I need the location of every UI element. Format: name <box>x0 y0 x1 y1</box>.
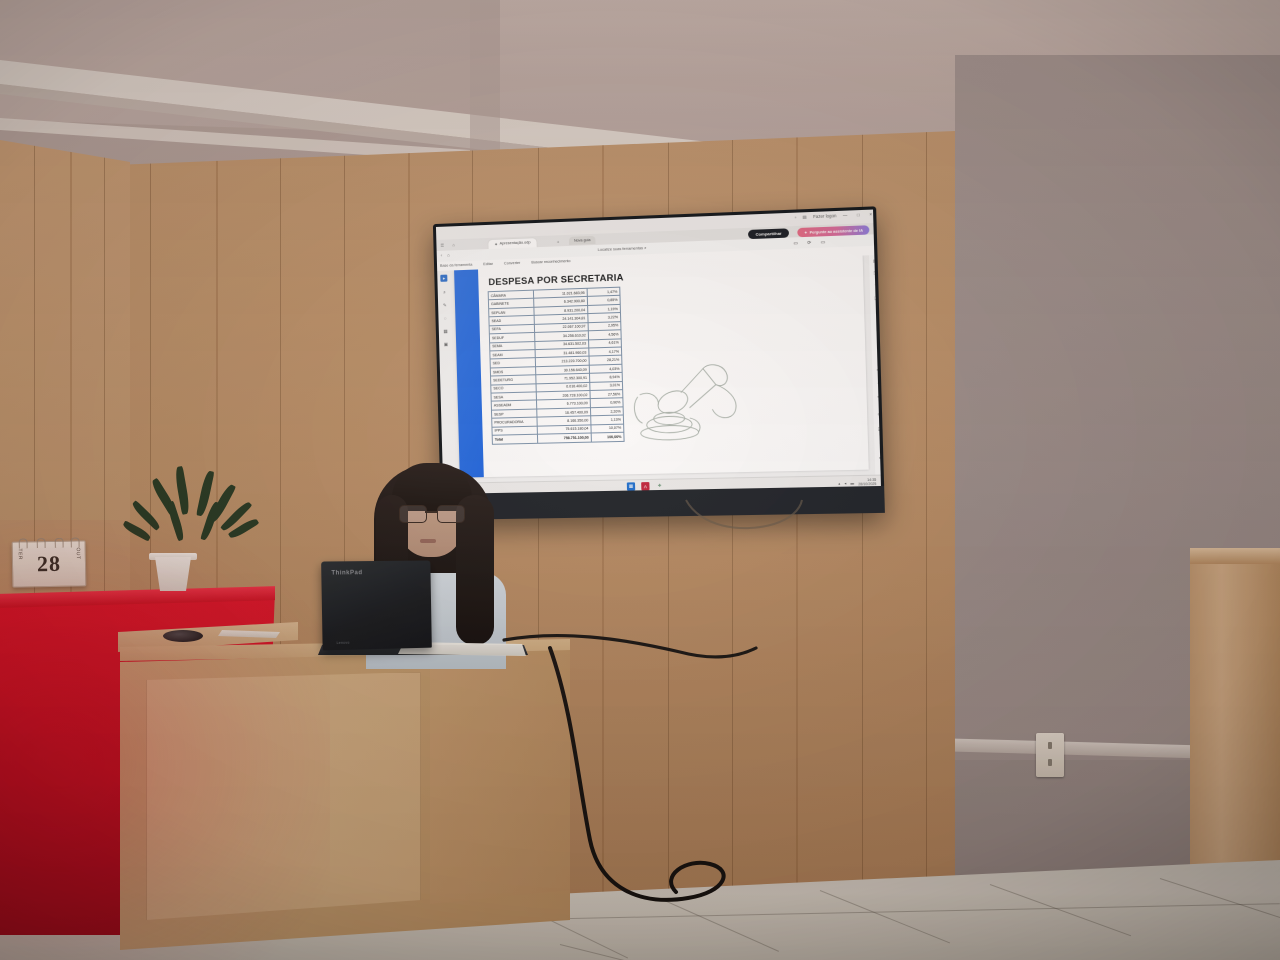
ribbon-item-2[interactable]: Converter <box>504 260 520 265</box>
edit-icon[interactable]: ✎ <box>875 367 881 373</box>
cell-valor: 758.751.100,00 <box>537 433 591 443</box>
window-controls-group: ▫ ▤ Fazer logon — □ × <box>795 211 877 219</box>
ribbon-item-3[interactable]: Buscar reconhecimento <box>531 259 570 264</box>
panel-icon[interactable]: ▤ <box>872 257 879 263</box>
search-hint-label: Localize suas ferramentas <box>598 246 643 252</box>
calendar-month: OUT <box>75 547 81 559</box>
wood-column-cap <box>1190 548 1280 564</box>
search-icon[interactable]: ⌕ <box>644 246 646 250</box>
fill-icon[interactable]: C <box>876 410 881 416</box>
share-button-label: Compartilhar <box>755 231 781 237</box>
pen-icon[interactable]: ✎ <box>441 302 448 309</box>
calendar-rings <box>13 537 85 547</box>
zoom-icon[interactable]: ⌕ <box>441 289 448 296</box>
laptop-badge: Lenovo <box>337 641 350 645</box>
shape-icon[interactable]: ▣ <box>442 341 449 348</box>
sparkle-icon: ✦ <box>804 230 807 234</box>
desk-object <box>163 630 203 642</box>
settings-icon[interactable]: ◈ <box>877 454 881 460</box>
volume-icon[interactable]: ◂ <box>844 481 846 485</box>
lectern-panel <box>146 672 421 927</box>
share-button[interactable]: Compartilhar <box>748 228 789 239</box>
photo-scene: ▫ ▤ Fazer logon — □ × ☰ ⌂ ✦ Apresentação… <box>0 0 1280 960</box>
tab-new[interactable]: Nova guia <box>569 236 596 245</box>
home-icon[interactable]: ⌂ <box>447 253 450 258</box>
crop-icon[interactable]: ◪ <box>877 425 881 431</box>
tv-screen: ▫ ▤ Fazer logon — □ × ☰ ⌂ ✦ Apresentação… <box>436 210 881 494</box>
floor-cable <box>520 640 820 940</box>
ai-button-label: Pergunte ao assistente de IA <box>809 228 863 234</box>
back-icon[interactable]: ‹ <box>441 253 443 258</box>
note-icon[interactable]: ▪ <box>875 379 881 385</box>
new-tab-icon[interactable]: + <box>557 239 560 244</box>
search-hint[interactable]: Localize suas ferramentas ⌕ <box>598 246 647 252</box>
tv-bezel: ▫ ▤ Fazer logon — □ × ☰ ⌂ ✦ Apresentação… <box>436 210 881 494</box>
ribbon-item-0[interactable]: Base da ferramenta <box>440 262 472 267</box>
slide-accent-bar <box>454 269 484 477</box>
screen-content: ▫ ▤ Fazer logon — □ × ☰ ⌂ ✦ Apresentação… <box>436 210 881 494</box>
doc-icon: ✦ <box>494 241 497 246</box>
nav-left-group: ‹ ⌂ <box>441 253 450 258</box>
battery-icon[interactable]: ▬ <box>850 481 854 485</box>
export-icon[interactable]: ⇪ <box>872 282 879 288</box>
comment-icon[interactable]: ◌ <box>442 315 449 322</box>
calendar-weekday: TER <box>17 548 23 560</box>
laptop-screen: ThinkPad Lenovo <box>321 560 432 650</box>
wall-outlet <box>1036 733 1064 777</box>
gavel-sketch <box>626 357 755 450</box>
history-icon[interactable]: ⟳ <box>807 239 811 245</box>
duplicate-icon[interactable]: ❏ <box>873 294 880 300</box>
network-icon[interactable]: ▴ <box>838 481 840 485</box>
table-row-total: Total758.751.100,00100,00% <box>492 432 624 443</box>
eyeglasses <box>399 505 463 521</box>
laptop-brand: ThinkPad <box>331 570 362 576</box>
budget-table: CÂMARA11.021.683,951,47%GABINETE6.342.90… <box>488 287 625 445</box>
ribbon-item-1[interactable]: Editar <box>483 261 493 265</box>
present-icon[interactable]: ▭ <box>821 239 826 245</box>
restore-icon[interactable]: ▫ <box>795 215 797 220</box>
copy-icon[interactable]: ❐ <box>872 269 879 275</box>
tab-new-label: Nova guia <box>574 238 591 243</box>
window-buttons[interactable]: — □ × <box>843 211 877 217</box>
power-cable <box>500 612 760 672</box>
slide-title: DESPESA POR SECRETARIA <box>488 272 623 287</box>
image-icon[interactable]: ▦ <box>442 328 449 335</box>
mouth <box>420 539 436 543</box>
signin-label[interactable]: Fazer logon <box>813 213 837 219</box>
home-icon[interactable]: ⌂ <box>452 242 455 247</box>
desk-calendar: TER 28 OUT <box>12 540 87 587</box>
slide-page: DESPESA POR SECRETARIA <box>454 255 869 477</box>
sign-icon[interactable]: ✎ <box>876 394 881 400</box>
tv-cable <box>680 498 810 538</box>
cell-percentual: 100,00% <box>591 432 624 441</box>
tab-label: Apresentação.odp <box>500 240 531 245</box>
comment-icon[interactable]: ▭ <box>793 240 798 246</box>
document-canvas: DESPESA POR SECRETARIA <box>450 255 875 483</box>
layout-icon[interactable]: ▤ <box>803 214 807 219</box>
nav-icon-group: ▭ ⟳ ▭ <box>793 239 825 246</box>
cursor-icon[interactable]: ▸ <box>440 275 447 282</box>
cell-secretaria: Total <box>492 434 537 443</box>
menu-icon[interactable]: ☰ <box>440 243 444 248</box>
more-icon[interactable]: ▫ <box>877 439 881 445</box>
calendar-day: 28 <box>37 551 61 577</box>
